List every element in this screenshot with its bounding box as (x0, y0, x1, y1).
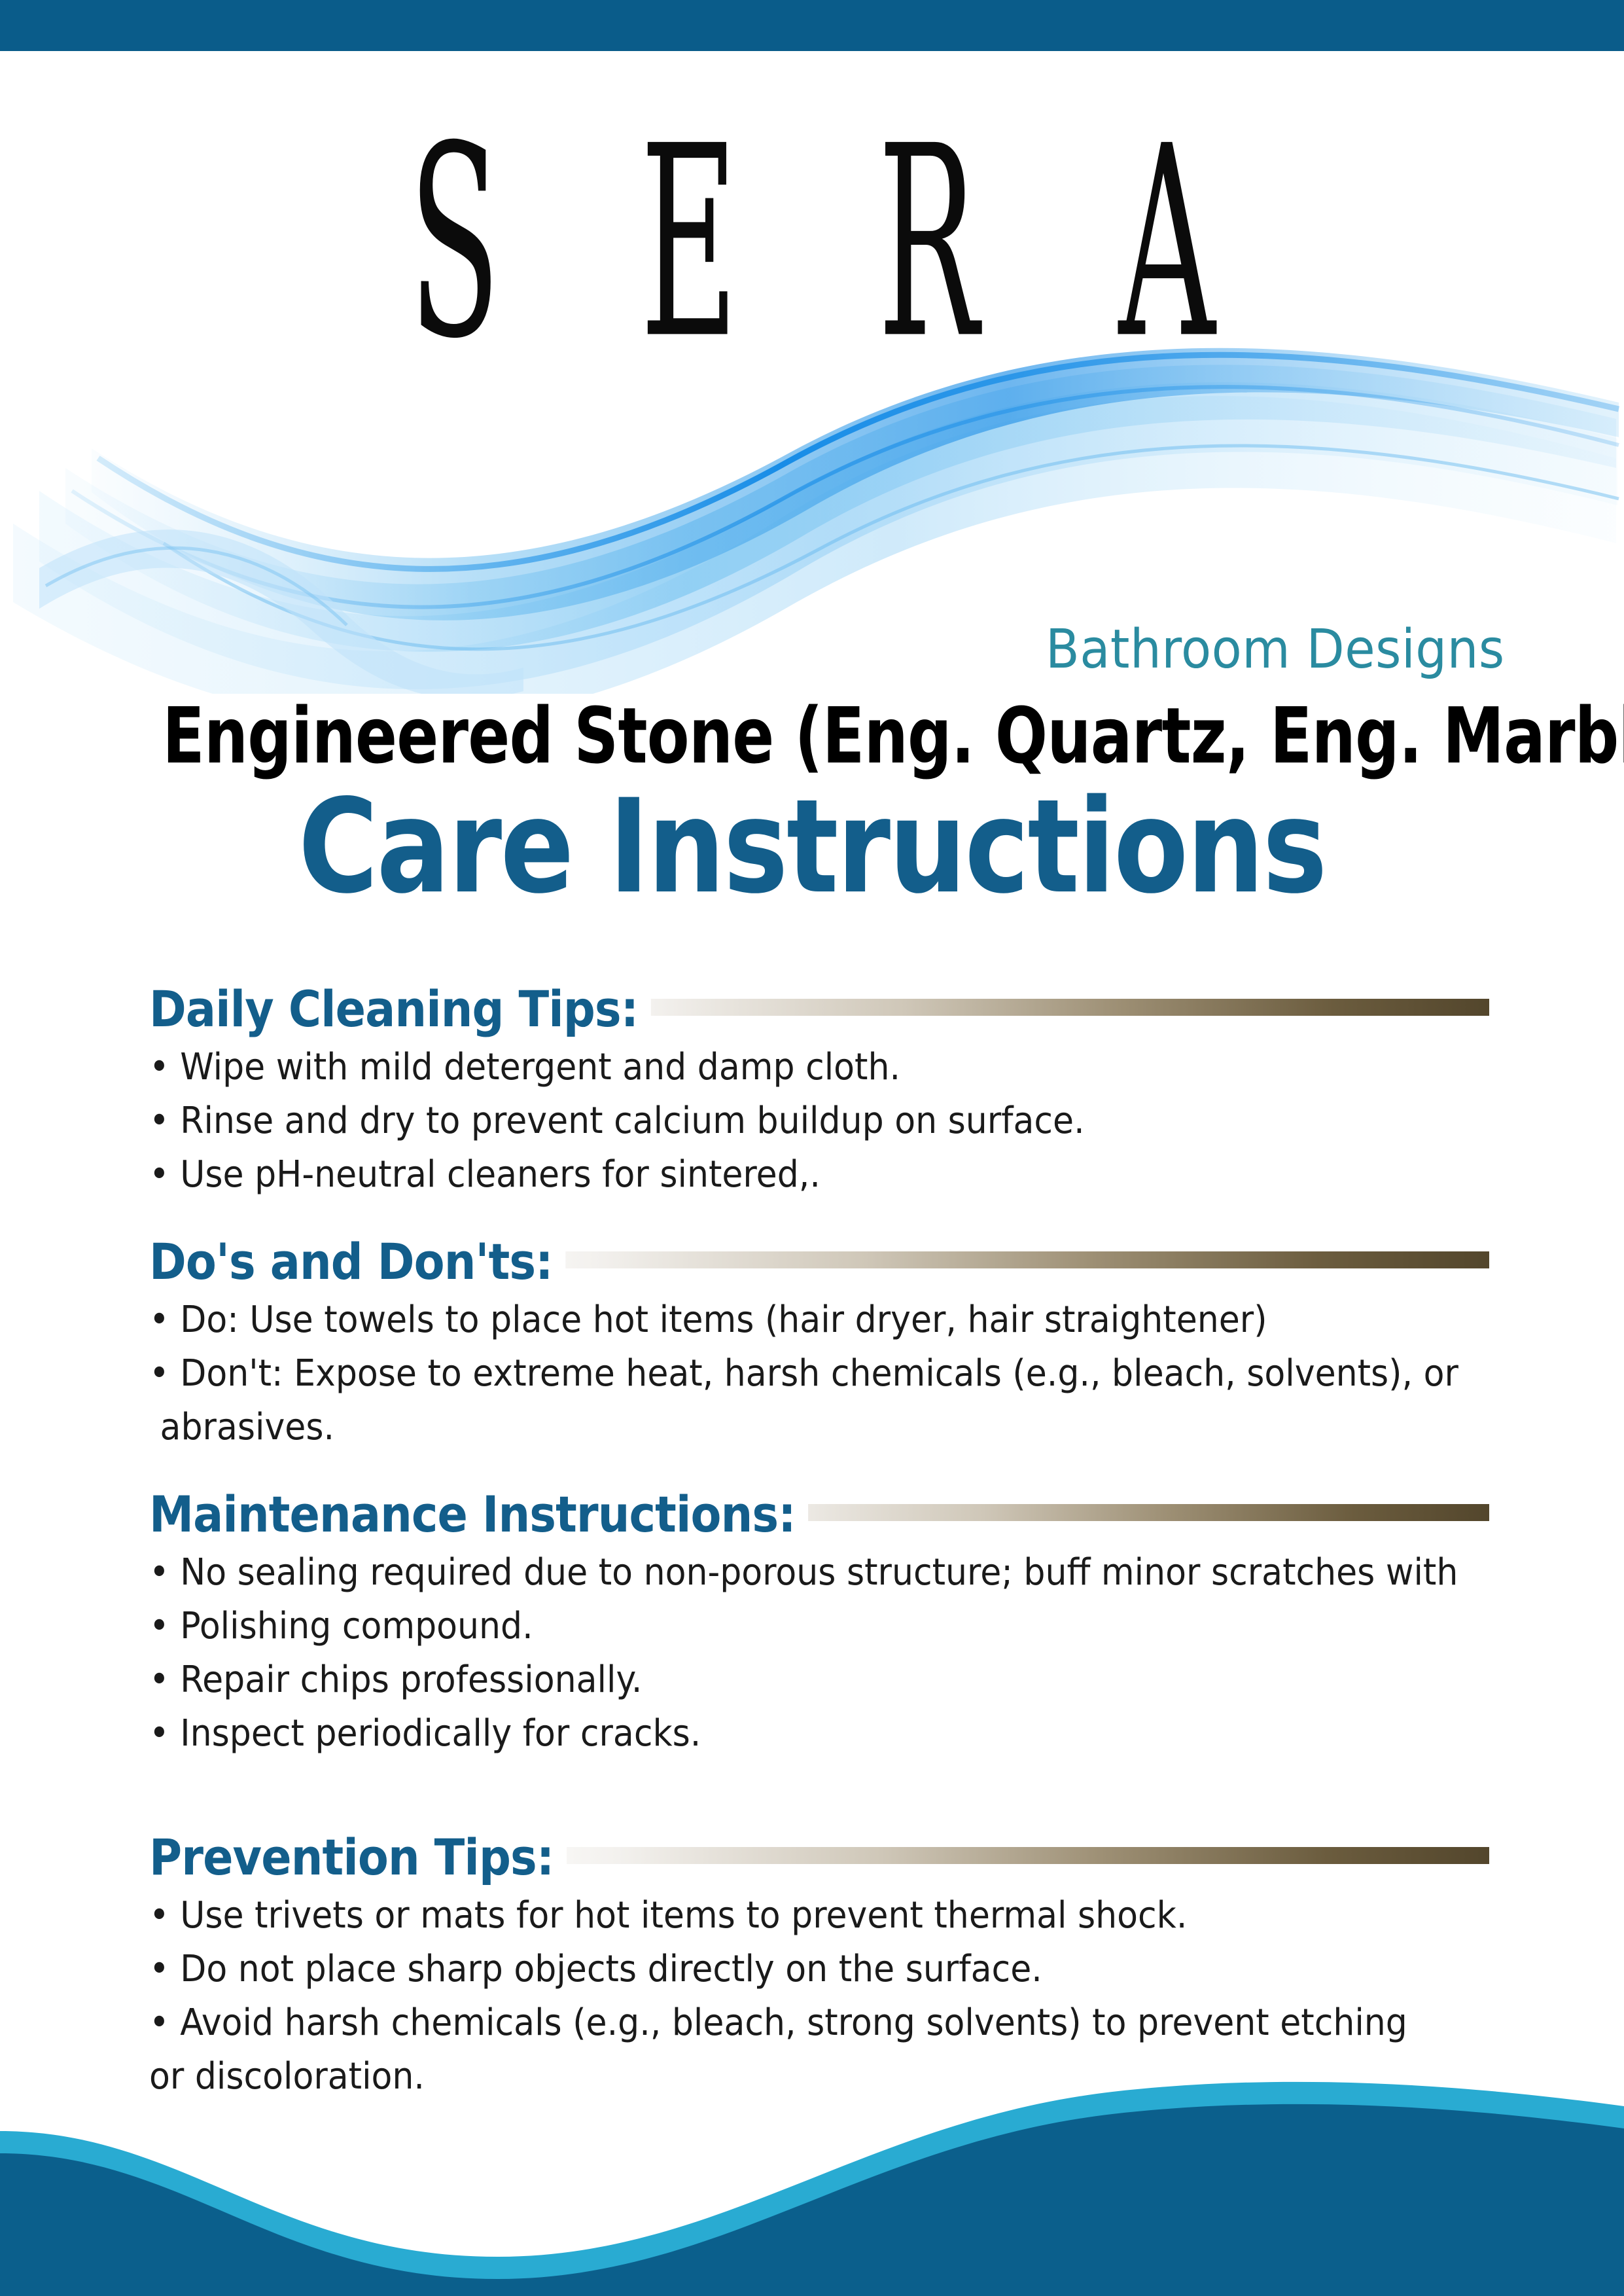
list-item: abrasives. (149, 1401, 1385, 1454)
section-heading: Daily Cleaning Tips: (149, 980, 651, 1038)
section-maintenance-instructions: Maintenance Instructions: • No sealing r… (149, 1486, 1477, 1761)
list-item: • Avoid harsh chemicals (e.g., bleach, s… (149, 1996, 1385, 2050)
content-body: Daily Cleaning Tips: • Wipe with mild de… (149, 980, 1477, 2104)
section-divider-rule (516, 999, 1489, 1016)
section-heading: Do's and Don'ts: (149, 1233, 565, 1291)
list-item: • Don't: Expose to extreme heat, harsh c… (149, 1347, 1385, 1401)
section-heading: Prevention Tips: (149, 1829, 567, 1886)
brand-tagline: Bathroom Designs (1046, 623, 1505, 677)
list-item: • Do: Use towels to place hot items (hai… (149, 1293, 1385, 1347)
bottom-wave-decoration (0, 2060, 1624, 2296)
section-header: Do's and Don'ts: (149, 1233, 1477, 1291)
list-item: • Use trivets or mats for hot items to p… (149, 1889, 1385, 1943)
bullet-list: • Do: Use towels to place hot items (hai… (149, 1293, 1477, 1454)
top-accent-bar (0, 0, 1624, 51)
poster-page: S E R A (0, 0, 1624, 2296)
section-header: Prevention Tips: (149, 1829, 1477, 1886)
bullet-list: • Wipe with mild detergent and damp clot… (149, 1041, 1477, 1202)
bullet-list: • No sealing required due to non-porous … (149, 1546, 1477, 1761)
list-item: • No sealing required due to non-porous … (149, 1546, 1385, 1600)
section-divider-rule (476, 1847, 1489, 1864)
list-item: • Wipe with mild detergent and damp clot… (149, 1041, 1385, 1094)
list-item: • Repair chips professionally. (149, 1653, 1385, 1707)
page-title: Care Instructions (130, 782, 1494, 912)
list-item: • Do not place sharp objects directly on… (149, 1943, 1385, 1996)
section-daily-cleaning-tips: Daily Cleaning Tips: • Wipe with mild de… (149, 980, 1477, 1202)
section-dos-and-donts: Do's and Don'ts: • Do: Use towels to pla… (149, 1233, 1477, 1454)
section-divider-rule (450, 1251, 1489, 1268)
list-item: • Rinse and dry to prevent calcium build… (149, 1094, 1385, 1148)
list-item: • Inspect periodically for cracks. (149, 1707, 1385, 1761)
list-item: • Use pH-neutral cleaners for sintered,. (149, 1148, 1385, 1202)
section-header: Daily Cleaning Tips: (149, 980, 1477, 1038)
section-header: Maintenance Instructions: (149, 1486, 1477, 1543)
section-heading: Maintenance Instructions: (149, 1486, 808, 1543)
list-item: • Polishing compound. (149, 1600, 1385, 1653)
brand-wordmark: S E R A (309, 111, 1316, 375)
product-line-title: Engineered Stone (Eng. Quartz, Eng. Marb… (162, 697, 1462, 774)
